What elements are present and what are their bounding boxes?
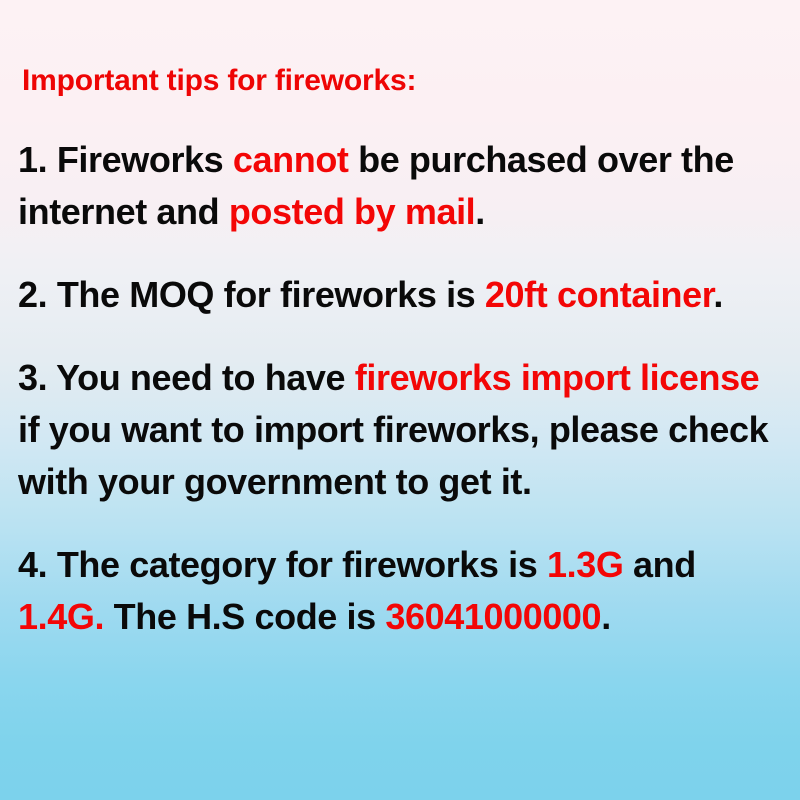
tip-text-2-1: 2. The MOQ for fireworks is [18, 274, 485, 315]
tip-highlight-1-4: posted by mail [229, 191, 475, 232]
fireworks-tips-poster: Important tips for fireworks: 1. Firewor… [0, 0, 800, 800]
tips-list: 1. Fireworks cannot be purchased over th… [18, 134, 780, 643]
tip-highlight-2-2: 20ft container [485, 274, 713, 315]
tip-text-2-3: . [713, 274, 723, 315]
tip-highlight-3-2: fireworks import license [355, 357, 760, 398]
tip-text-4-5: The H.S code is [104, 596, 385, 637]
tip-text-4-7: . [601, 596, 611, 637]
tip-item-1: 1. Fireworks cannot be purchased over th… [18, 134, 780, 238]
tip-text-1-5: . [475, 191, 485, 232]
tip-text-4-3: and [623, 544, 695, 585]
page-title: Important tips for fireworks: [22, 62, 780, 100]
tip-item-4: 4. The category for fireworks is 1.3G an… [18, 539, 780, 643]
tip-highlight-4-4: 1.4G. [18, 596, 104, 637]
tip-highlight-4-6: 36041000000 [385, 596, 601, 637]
tip-text-4-1: 4. The category for fireworks is [18, 544, 547, 585]
tip-item-2: 2. The MOQ for fireworks is 20ft contain… [18, 269, 780, 321]
tip-text-3-1: 3. You need to have [18, 357, 355, 398]
tip-item-3: 3. You need to have fireworks import lic… [18, 352, 780, 508]
tip-highlight-4-2: 1.3G [547, 544, 623, 585]
tip-text-1-1: 1. Fireworks [18, 139, 233, 180]
tip-text-3-3: if you want to import fireworks, please … [18, 409, 768, 502]
tip-highlight-1-2: cannot [233, 139, 349, 180]
